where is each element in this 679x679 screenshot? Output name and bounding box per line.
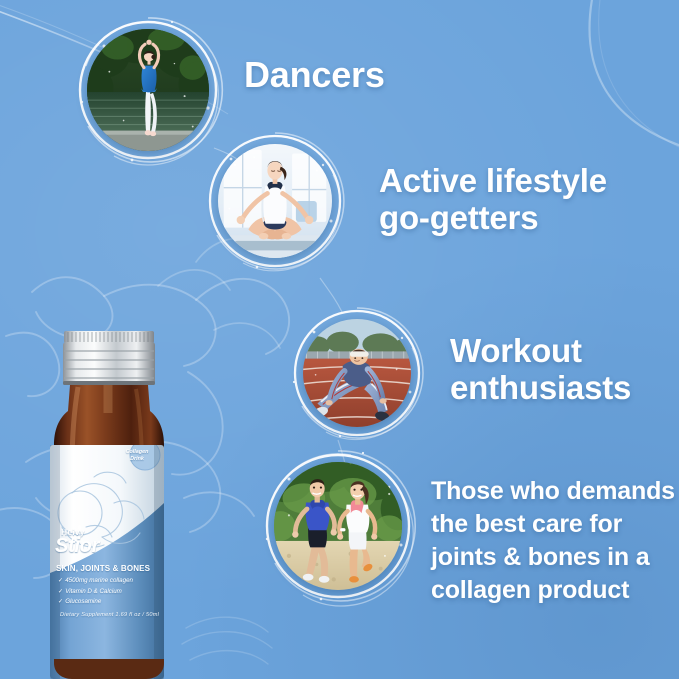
photo-couple [274,462,402,590]
headline-workout-enthusiasts: Workout enthusiasts [450,332,631,407]
headline-dancers: Dancers [244,55,385,96]
photo-yoga [218,144,332,258]
headline-best-care: Those who demands the best care for join… [431,475,675,607]
medallion-dancer [80,22,216,158]
medallion-yoga [211,137,339,265]
photo-runner [303,319,411,427]
product-infographic-poster: Dancers Active lifestyle go-getters Work… [0,0,679,679]
photo-dancer [87,29,209,151]
medallion-runner [296,312,418,434]
medallion-couple [267,455,409,597]
headline-active-lifestyle: Active lifestyle go-getters [379,162,607,237]
product-bottle [42,327,176,679]
